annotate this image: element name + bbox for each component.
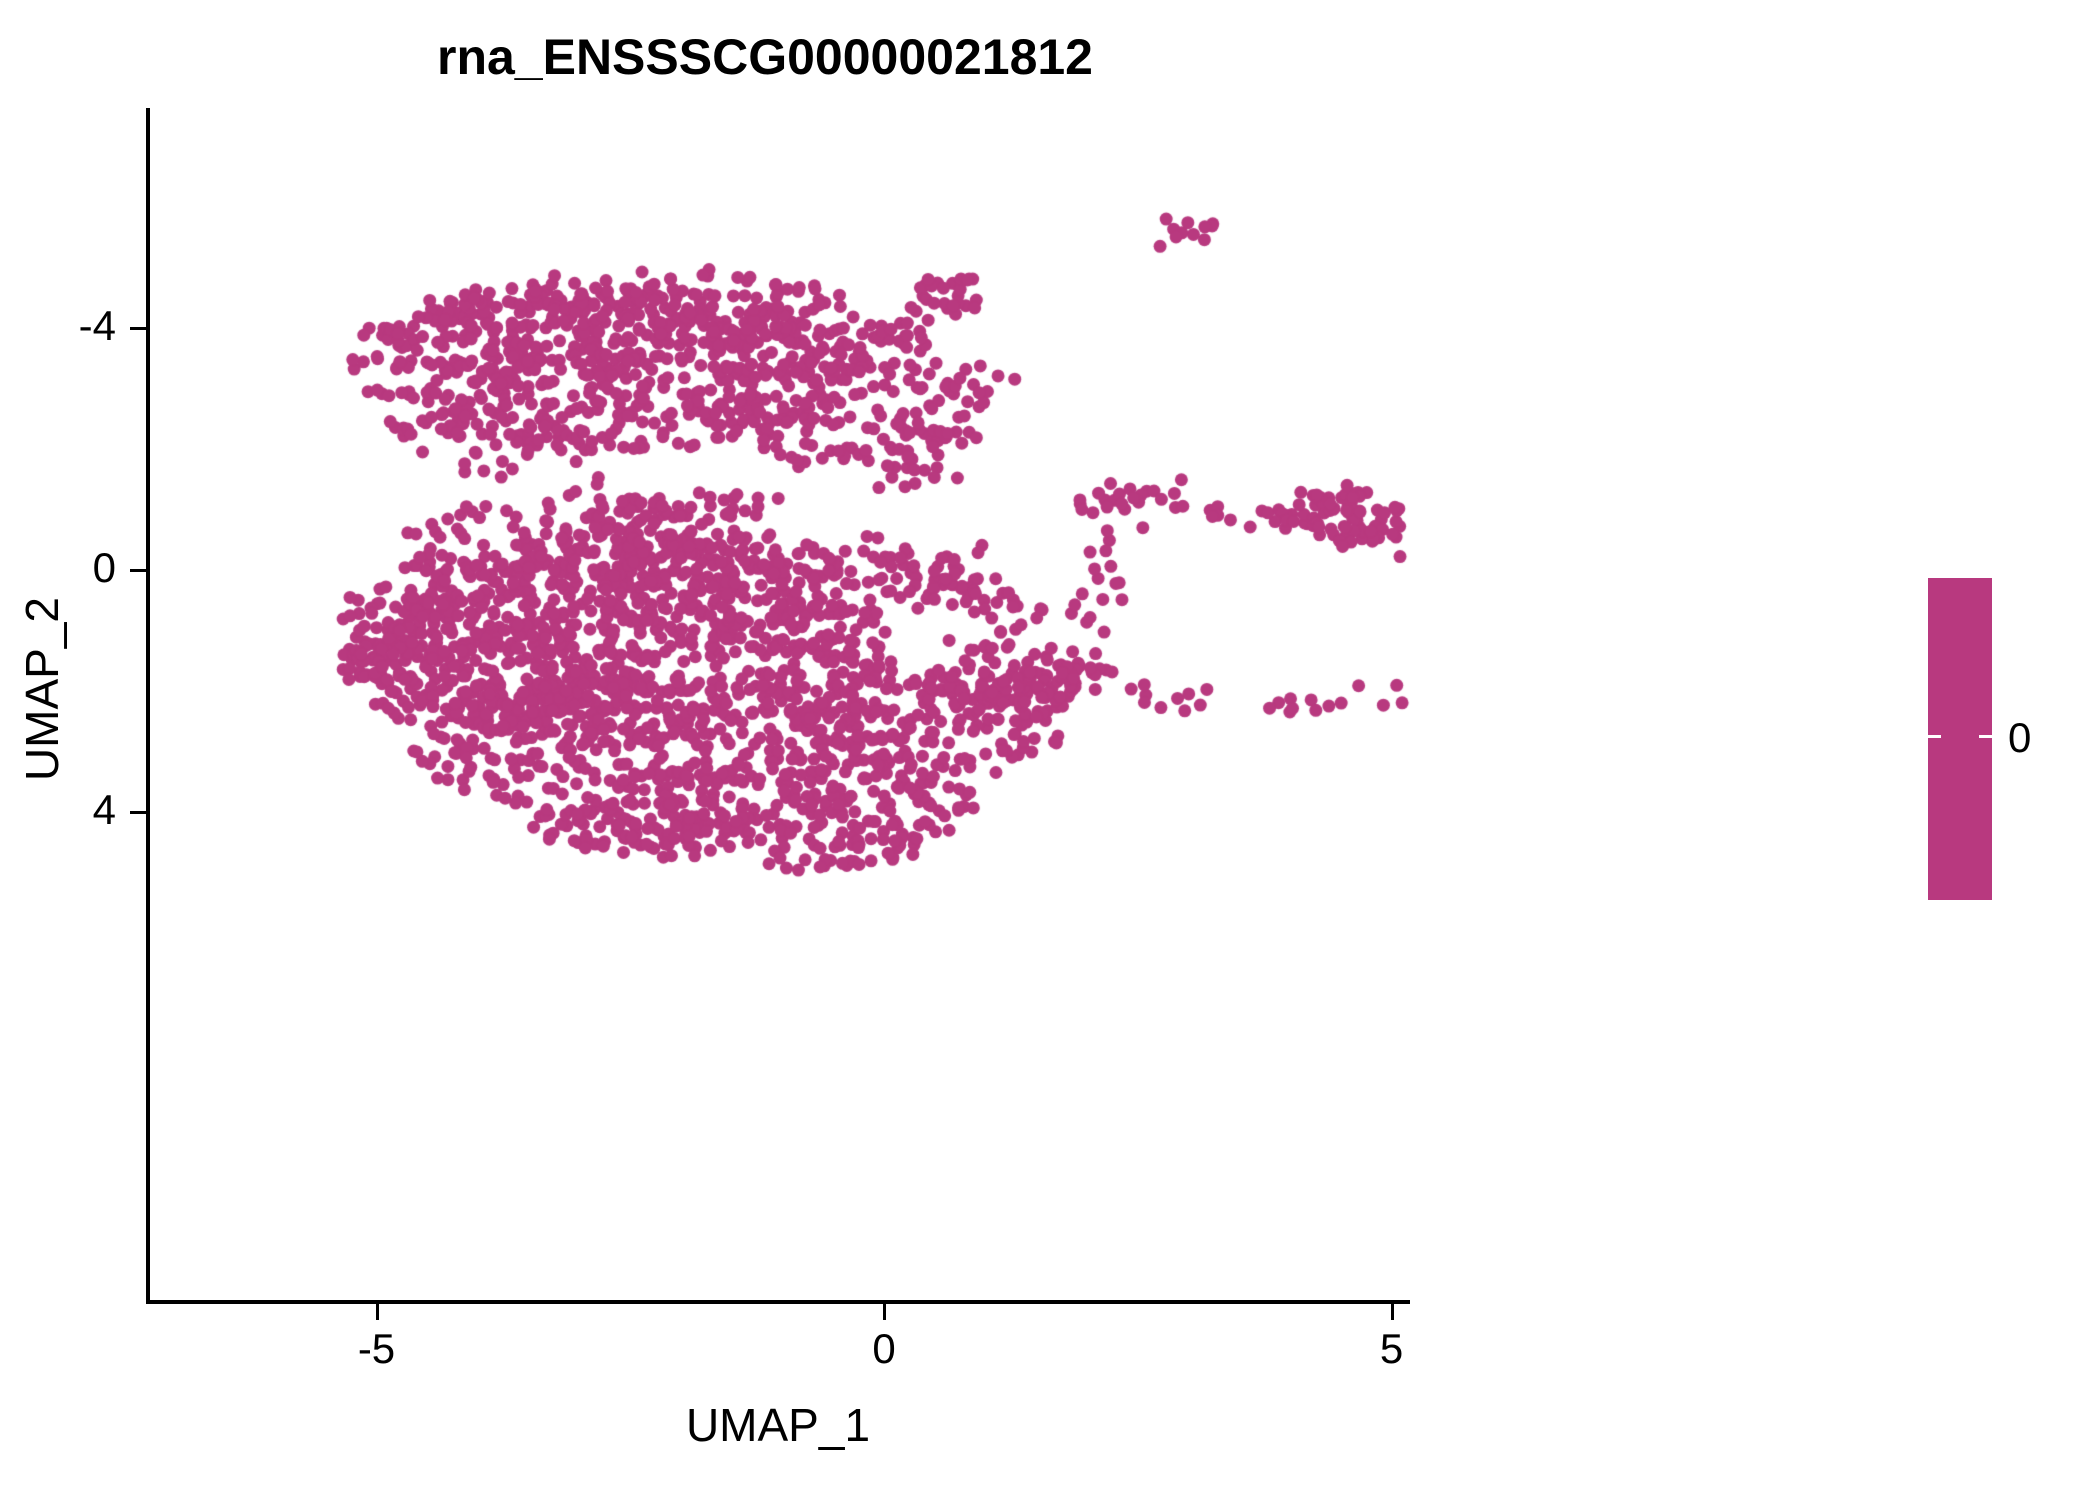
- x-axis-tick-label-5: 5: [1312, 1325, 1472, 1373]
- y-axis-tick-label-minus4: -4: [0, 302, 116, 350]
- y-axis-tick-mark-4: [130, 811, 146, 814]
- y-axis-line: [146, 108, 150, 1304]
- colorbar-tick-right: [1979, 735, 1992, 738]
- y-axis-label: UMAP_2: [15, 409, 69, 969]
- x-axis-tick-label-0: 0: [804, 1325, 964, 1373]
- colorbar-tick-left: [1928, 735, 1941, 738]
- colorbar-gradient: [1928, 578, 1992, 900]
- chart-page: rna_ENSSSCG00000021812 4 0 -4 -5 0 5 UMA…: [0, 0, 2100, 1500]
- x-axis-tick-mark-0: [883, 1304, 886, 1320]
- colorbar-tick-label-0: 0: [2008, 714, 2031, 762]
- x-axis-line: [146, 1300, 1410, 1304]
- y-axis-tick-mark-minus4: [130, 327, 146, 330]
- x-axis-tick-mark-minus5: [376, 1304, 379, 1320]
- colorbar-legend: [1928, 578, 1992, 900]
- scatter-plot-canvas: [0, 0, 2100, 1500]
- x-axis-tick-mark-5: [1391, 1304, 1394, 1320]
- y-axis-tick-mark-0: [130, 569, 146, 572]
- x-axis-tick-label-minus5: -5: [297, 1325, 457, 1373]
- x-axis-label: UMAP_1: [0, 1398, 1556, 1452]
